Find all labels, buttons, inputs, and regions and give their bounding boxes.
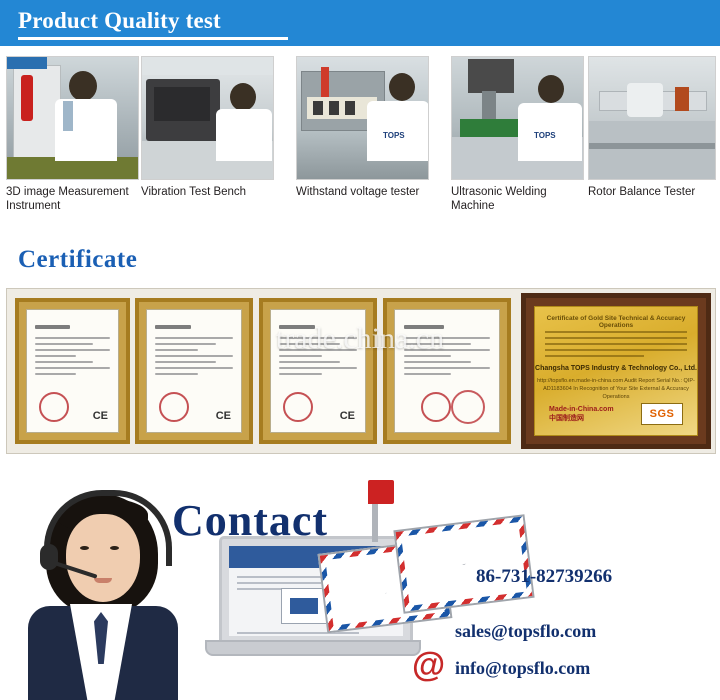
- photo-caption-2: Vibration Test Bench: [141, 185, 281, 199]
- photo-brand-3: TOPS: [383, 131, 405, 140]
- page-title: Product Quality test: [18, 8, 221, 34]
- photo-vibration-test-bench: [141, 56, 274, 180]
- mailbox-flag-icon: [368, 480, 394, 504]
- certificate-seal-icon: [39, 392, 69, 422]
- certificate-plaque[interactable]: Certificate of Gold Site Technical & Acc…: [521, 293, 711, 449]
- plaque-sub: http://topsflo.en.made-in-china.com Audi…: [535, 377, 697, 401]
- ce-mark-label-1: CE: [93, 410, 108, 422]
- certificate-title: Certificate: [18, 246, 137, 274]
- photo-withstand-voltage-tester: TOPS: [296, 56, 429, 180]
- photo-caption-4: Ultrasonic Welding Machine: [451, 185, 591, 213]
- certificate-frame-4[interactable]: [383, 298, 511, 444]
- plaque-logo-cn: 中国制造网: [549, 415, 584, 422]
- envelope-front-icon: [393, 514, 534, 613]
- title-underline: [18, 37, 288, 40]
- contact-title: Contact: [172, 495, 328, 546]
- certificate-seal-icon: [421, 392, 451, 422]
- at-symbol-icon: @: [412, 646, 445, 685]
- plaque-company: Changsha TOPS Industry & Technology Co.,…: [535, 365, 697, 372]
- sgs-logo: SGS: [641, 403, 683, 425]
- photo-cell-4: TOPS Ultrasonic Welding Machine: [451, 56, 591, 213]
- contact-email-sales[interactable]: sales@topsflo.com: [455, 621, 596, 642]
- plaque-logo-en: Made-in-China.com: [549, 406, 614, 413]
- page-root: Product Quality test 3D image Measuremen…: [0, 0, 720, 700]
- certificate-seal-icon: [159, 392, 189, 422]
- photo-caption-3: Withstand voltage tester: [296, 185, 436, 199]
- certificate-stamp-icon: [451, 390, 485, 424]
- photo-brand-4: TOPS: [534, 131, 556, 140]
- headset-icon: [44, 490, 172, 566]
- contact-email-info[interactable]: info@topsflo.com: [455, 658, 590, 679]
- certificate-seal-icon: [283, 392, 313, 422]
- certificate-strip: CE CE CE: [6, 288, 716, 454]
- photo-ultrasonic-welding-machine: TOPS: [451, 56, 584, 180]
- certificate-frame-1[interactable]: CE: [15, 298, 130, 444]
- plaque-heading: Certificate of Gold Site Technical & Acc…: [535, 315, 697, 329]
- quality-banner: Product Quality test: [0, 0, 720, 46]
- photo-cell-2: Vibration Test Bench: [141, 56, 281, 199]
- contact-section: Contact 86-731-82739266 @ sales@topsflo.…: [0, 466, 720, 700]
- photo-cell-3: TOPS Withstand voltage tester: [296, 56, 436, 199]
- photo-rotor-balance-tester: [588, 56, 716, 180]
- contact-phone: 86-731-82739266: [476, 566, 612, 588]
- ce-mark-label-3: CE: [340, 410, 355, 422]
- certificate-frame-3[interactable]: CE: [259, 298, 377, 444]
- photo-cell-5: Rotor Balance Tester: [588, 56, 720, 199]
- photo-cell-1: 3D image Measurement Instrument: [6, 56, 146, 213]
- ce-mark-label-2: CE: [216, 410, 231, 422]
- photo-caption-5: Rotor Balance Tester: [588, 185, 720, 199]
- certificate-frame-2[interactable]: CE: [135, 298, 253, 444]
- quality-photo-row: 3D image Measurement Instrument Vibratio…: [0, 56, 720, 226]
- photo-caption-1: 3D image Measurement Instrument: [6, 185, 146, 213]
- photo-3d-image-measurement-instrument: [6, 56, 139, 180]
